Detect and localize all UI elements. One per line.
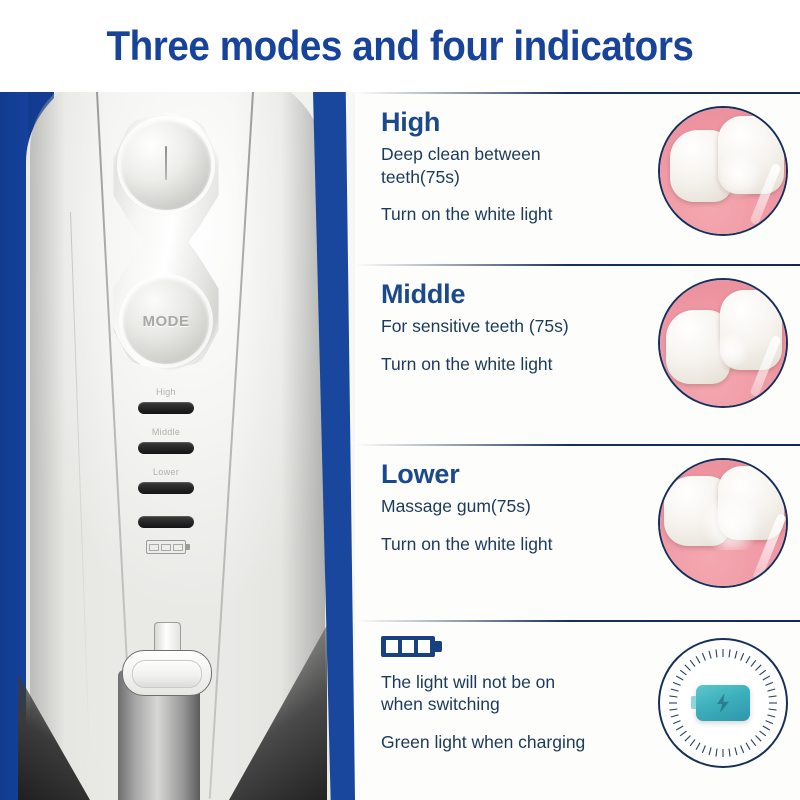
mode-note: Turn on the white light — [381, 204, 658, 226]
mode-section-text: Middle For sensitive teeth (75s) Turn on… — [381, 274, 658, 444]
power-button[interactable] — [121, 120, 211, 210]
indicator-middle-label: Middle — [118, 427, 214, 437]
water-spray — [714, 332, 748, 370]
section-divider — [355, 444, 800, 446]
release-switch[interactable] — [122, 622, 210, 714]
mode-heading: Lower — [381, 460, 658, 488]
mode-note: Turn on the white light — [381, 534, 658, 556]
release-switch-inner — [132, 660, 202, 688]
water-spray — [700, 498, 762, 550]
indicator-high: High — [118, 387, 214, 414]
mode-section-text: High Deep clean between teeth(75s) Turn … — [381, 102, 658, 264]
battery-cell — [149, 544, 159, 551]
indicator-lower: Lower — [118, 467, 214, 494]
lightning-bolt-icon — [713, 693, 733, 713]
indicator-middle-bar — [138, 442, 194, 454]
battery-bar — [386, 640, 398, 653]
mode-description: Deep clean between teeth(75s) — [381, 143, 596, 188]
charging-battery-icon — [696, 685, 750, 721]
battery-cell — [173, 544, 183, 551]
mode-button[interactable]: MODE — [123, 278, 209, 364]
water-spray — [716, 152, 762, 198]
mode-heading: Middle — [381, 280, 658, 308]
control-plate: MODE — [110, 112, 222, 372]
teeth-water-jet-image — [658, 278, 788, 408]
mode-note: Turn on the white light — [381, 354, 658, 376]
indicator-high-bar — [138, 402, 194, 414]
battery-three-bars-icon — [381, 636, 435, 657]
indicator-battery-bar — [138, 516, 194, 528]
mode-description: For sensitive teeth (75s) — [381, 315, 596, 337]
battery-bar — [402, 640, 414, 653]
mode-section-battery: The light will not be on when switching … — [355, 620, 800, 800]
mode-button-label: MODE — [143, 313, 190, 330]
page-title: Three modes and four indicators — [107, 22, 694, 70]
infographic-page: Three modes and four indicators MODE Hig… — [0, 0, 800, 800]
teeth-water-jet-image — [658, 458, 788, 588]
mode-heading: High — [381, 108, 658, 136]
battery-level-icon — [146, 540, 186, 554]
mode-section-text: Lower Massage gum(75s) Turn on the white… — [381, 454, 658, 620]
section-divider — [355, 264, 800, 266]
indicator-stack: High Middle Lower — [118, 387, 214, 567]
mode-description: The light will not be on when switching — [381, 671, 596, 716]
indicator-high-label: High — [118, 387, 214, 397]
mode-note: Green light when charging — [381, 732, 658, 754]
indicator-lower-label: Lower — [118, 467, 214, 477]
indicator-middle: Middle — [118, 427, 214, 454]
teeth-water-jet-image — [658, 106, 788, 236]
mode-section-text: The light will not be on when switching … — [381, 630, 658, 800]
mode-section-lower: Lower Massage gum(75s) Turn on the white… — [355, 444, 800, 620]
mode-list: High Deep clean between teeth(75s) Turn … — [355, 92, 800, 800]
battery-charging-image — [658, 638, 788, 768]
indicator-lower-bar — [138, 482, 194, 494]
device-body-shadow-left — [30, 92, 108, 800]
title-bar: Three modes and four indicators — [0, 0, 800, 92]
section-divider — [355, 620, 800, 622]
indicator-battery — [118, 516, 214, 554]
mode-section-high: High Deep clean between teeth(75s) Turn … — [355, 92, 800, 264]
mode-section-middle: Middle For sensitive teeth (75s) Turn on… — [355, 264, 800, 444]
product-photo-panel: MODE High Middle Lower — [0, 92, 355, 800]
battery-cell — [161, 544, 171, 551]
mode-description: Massage gum(75s) — [381, 495, 596, 517]
section-divider — [355, 92, 800, 94]
battery-bar — [418, 640, 430, 653]
